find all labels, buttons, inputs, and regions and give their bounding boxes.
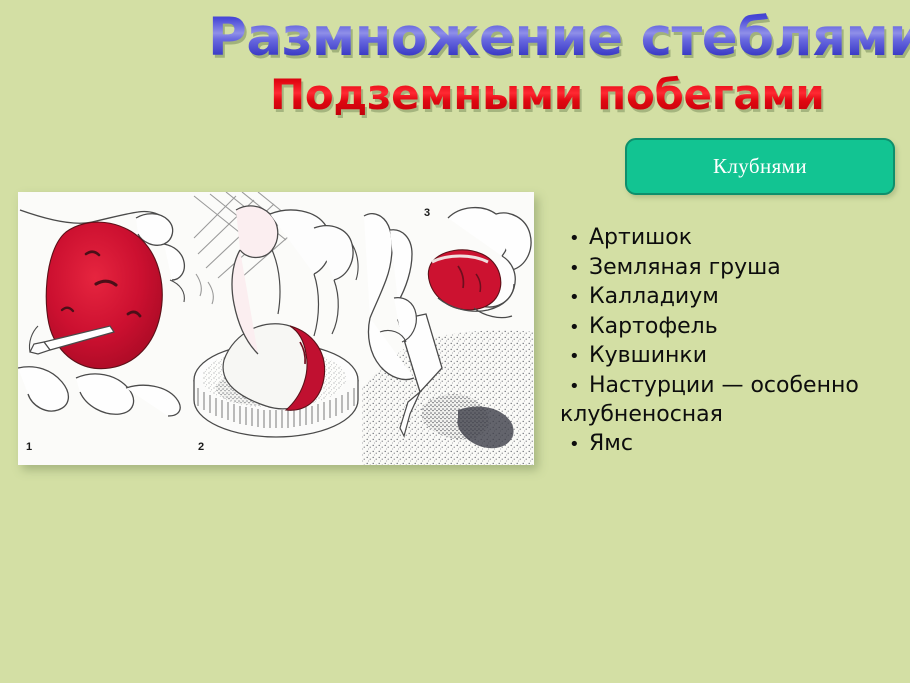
list-item-label: Картофель xyxy=(589,314,718,339)
panel-number-3: 3 xyxy=(424,207,430,219)
slide-canvas: Размножение стеблями Подземными побегами… xyxy=(0,0,910,683)
plant-list: •Артишок •Земляная груша •Калладиум •Кар… xyxy=(560,224,908,459)
list-item: •Ямс xyxy=(560,430,908,460)
panel-number-1: 1 xyxy=(26,441,32,453)
list-item-label: Артишок xyxy=(589,225,692,250)
propagation-steps-diagram: 1 xyxy=(18,192,534,465)
category-badge: Клубнями xyxy=(625,138,895,195)
list-item-label: Земляная груша xyxy=(589,255,781,280)
bullet-icon: • xyxy=(560,373,589,402)
list-item: •Земляная груша xyxy=(560,254,908,284)
list-item: •Картофель xyxy=(560,313,908,343)
bullet-icon: • xyxy=(560,431,589,460)
illustration-image: 1 xyxy=(18,192,534,465)
panel-3-plant-in-soil: 3 xyxy=(362,192,534,465)
bullet-icon: • xyxy=(560,255,589,284)
list-item: •Кувшинки xyxy=(560,342,908,372)
list-item: •Настурции — особенно клубненосная xyxy=(560,372,908,430)
bullet-icon: • xyxy=(560,314,589,343)
panel-2-dust-with-fungicide: 2 xyxy=(190,192,362,465)
panel-1-cut-tuber: 1 xyxy=(18,192,190,465)
page-title: Размножение стеблями xyxy=(208,8,910,68)
list-item: •Артишок xyxy=(560,224,908,254)
list-item-label: Кувшинки xyxy=(589,343,707,368)
bullet-icon: • xyxy=(560,284,589,313)
panel-number-2: 2 xyxy=(198,441,204,453)
page-subtitle: Подземными побегами xyxy=(270,71,825,119)
category-badge-label: Клубнями xyxy=(713,154,807,179)
list-item: •Калладиум xyxy=(560,283,908,313)
bullet-icon: • xyxy=(560,343,589,372)
list-item-label: Ямс xyxy=(589,431,633,456)
list-item-label: Калладиум xyxy=(589,284,719,309)
bullet-icon: • xyxy=(560,225,589,254)
list-item-label: Настурции — особенно клубненосная xyxy=(560,373,859,428)
